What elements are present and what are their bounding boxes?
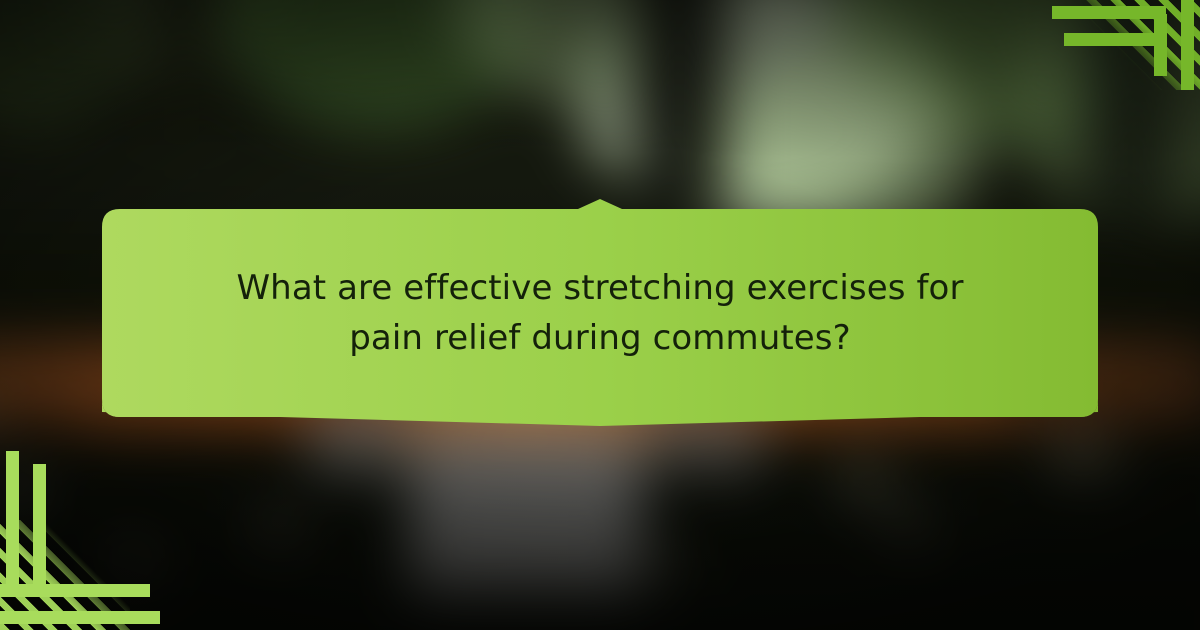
bracket-bar-vertical — [33, 464, 46, 584]
bracket-bar-vertical — [1154, 14, 1167, 76]
bracket-bar-horizontal — [1052, 6, 1166, 19]
bracket-bar-vertical — [6, 451, 19, 596]
corner-bracket-bottom-left — [0, 465, 175, 630]
bracket-bar-horizontal — [0, 584, 150, 597]
headline-card-text: What are effective stretching exercises … — [102, 198, 1098, 428]
bracket-bar-vertical — [1181, 0, 1194, 90]
bracket-bar-horizontal — [1064, 33, 1166, 46]
bracket-bar-horizontal — [0, 611, 160, 624]
share-card-canvas: What are effective stretching exercises … — [0, 0, 1200, 630]
page-title: What are effective stretching exercises … — [230, 263, 970, 364]
headline-card: What are effective stretching exercises … — [102, 198, 1098, 428]
corner-bracket-top-right — [1030, 0, 1200, 100]
